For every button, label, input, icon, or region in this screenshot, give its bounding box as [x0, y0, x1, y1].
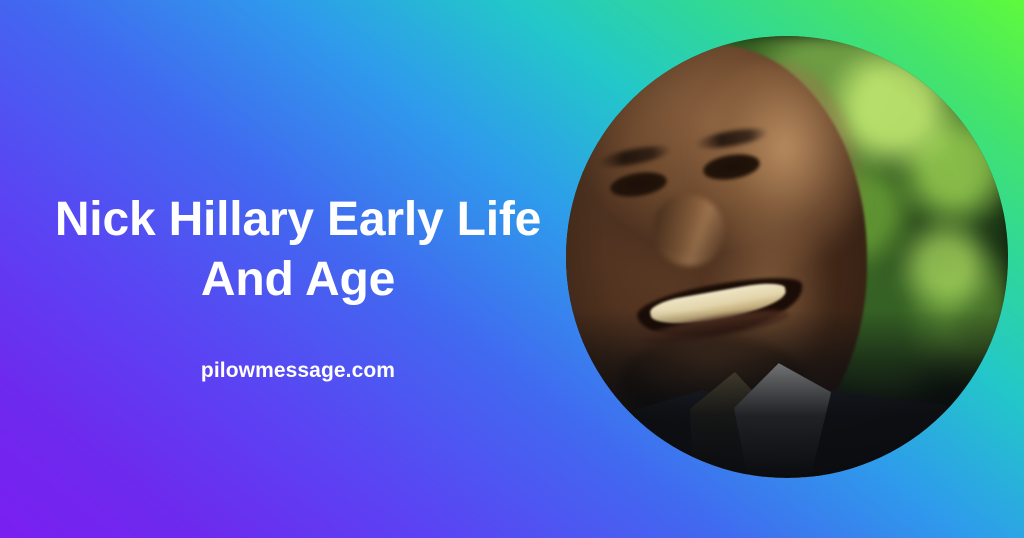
text-block: Nick Hillary Early Life And Age pilowmes…	[0, 190, 596, 383]
portrait-photo	[566, 36, 1008, 478]
page-title: Nick Hillary Early Life And Age	[0, 190, 596, 311]
featured-image-banner: Nick Hillary Early Life And Age pilowmes…	[0, 0, 1024, 538]
photo-bottom-vignette	[566, 36, 1008, 478]
site-name: pilowmessage.com	[0, 311, 596, 383]
